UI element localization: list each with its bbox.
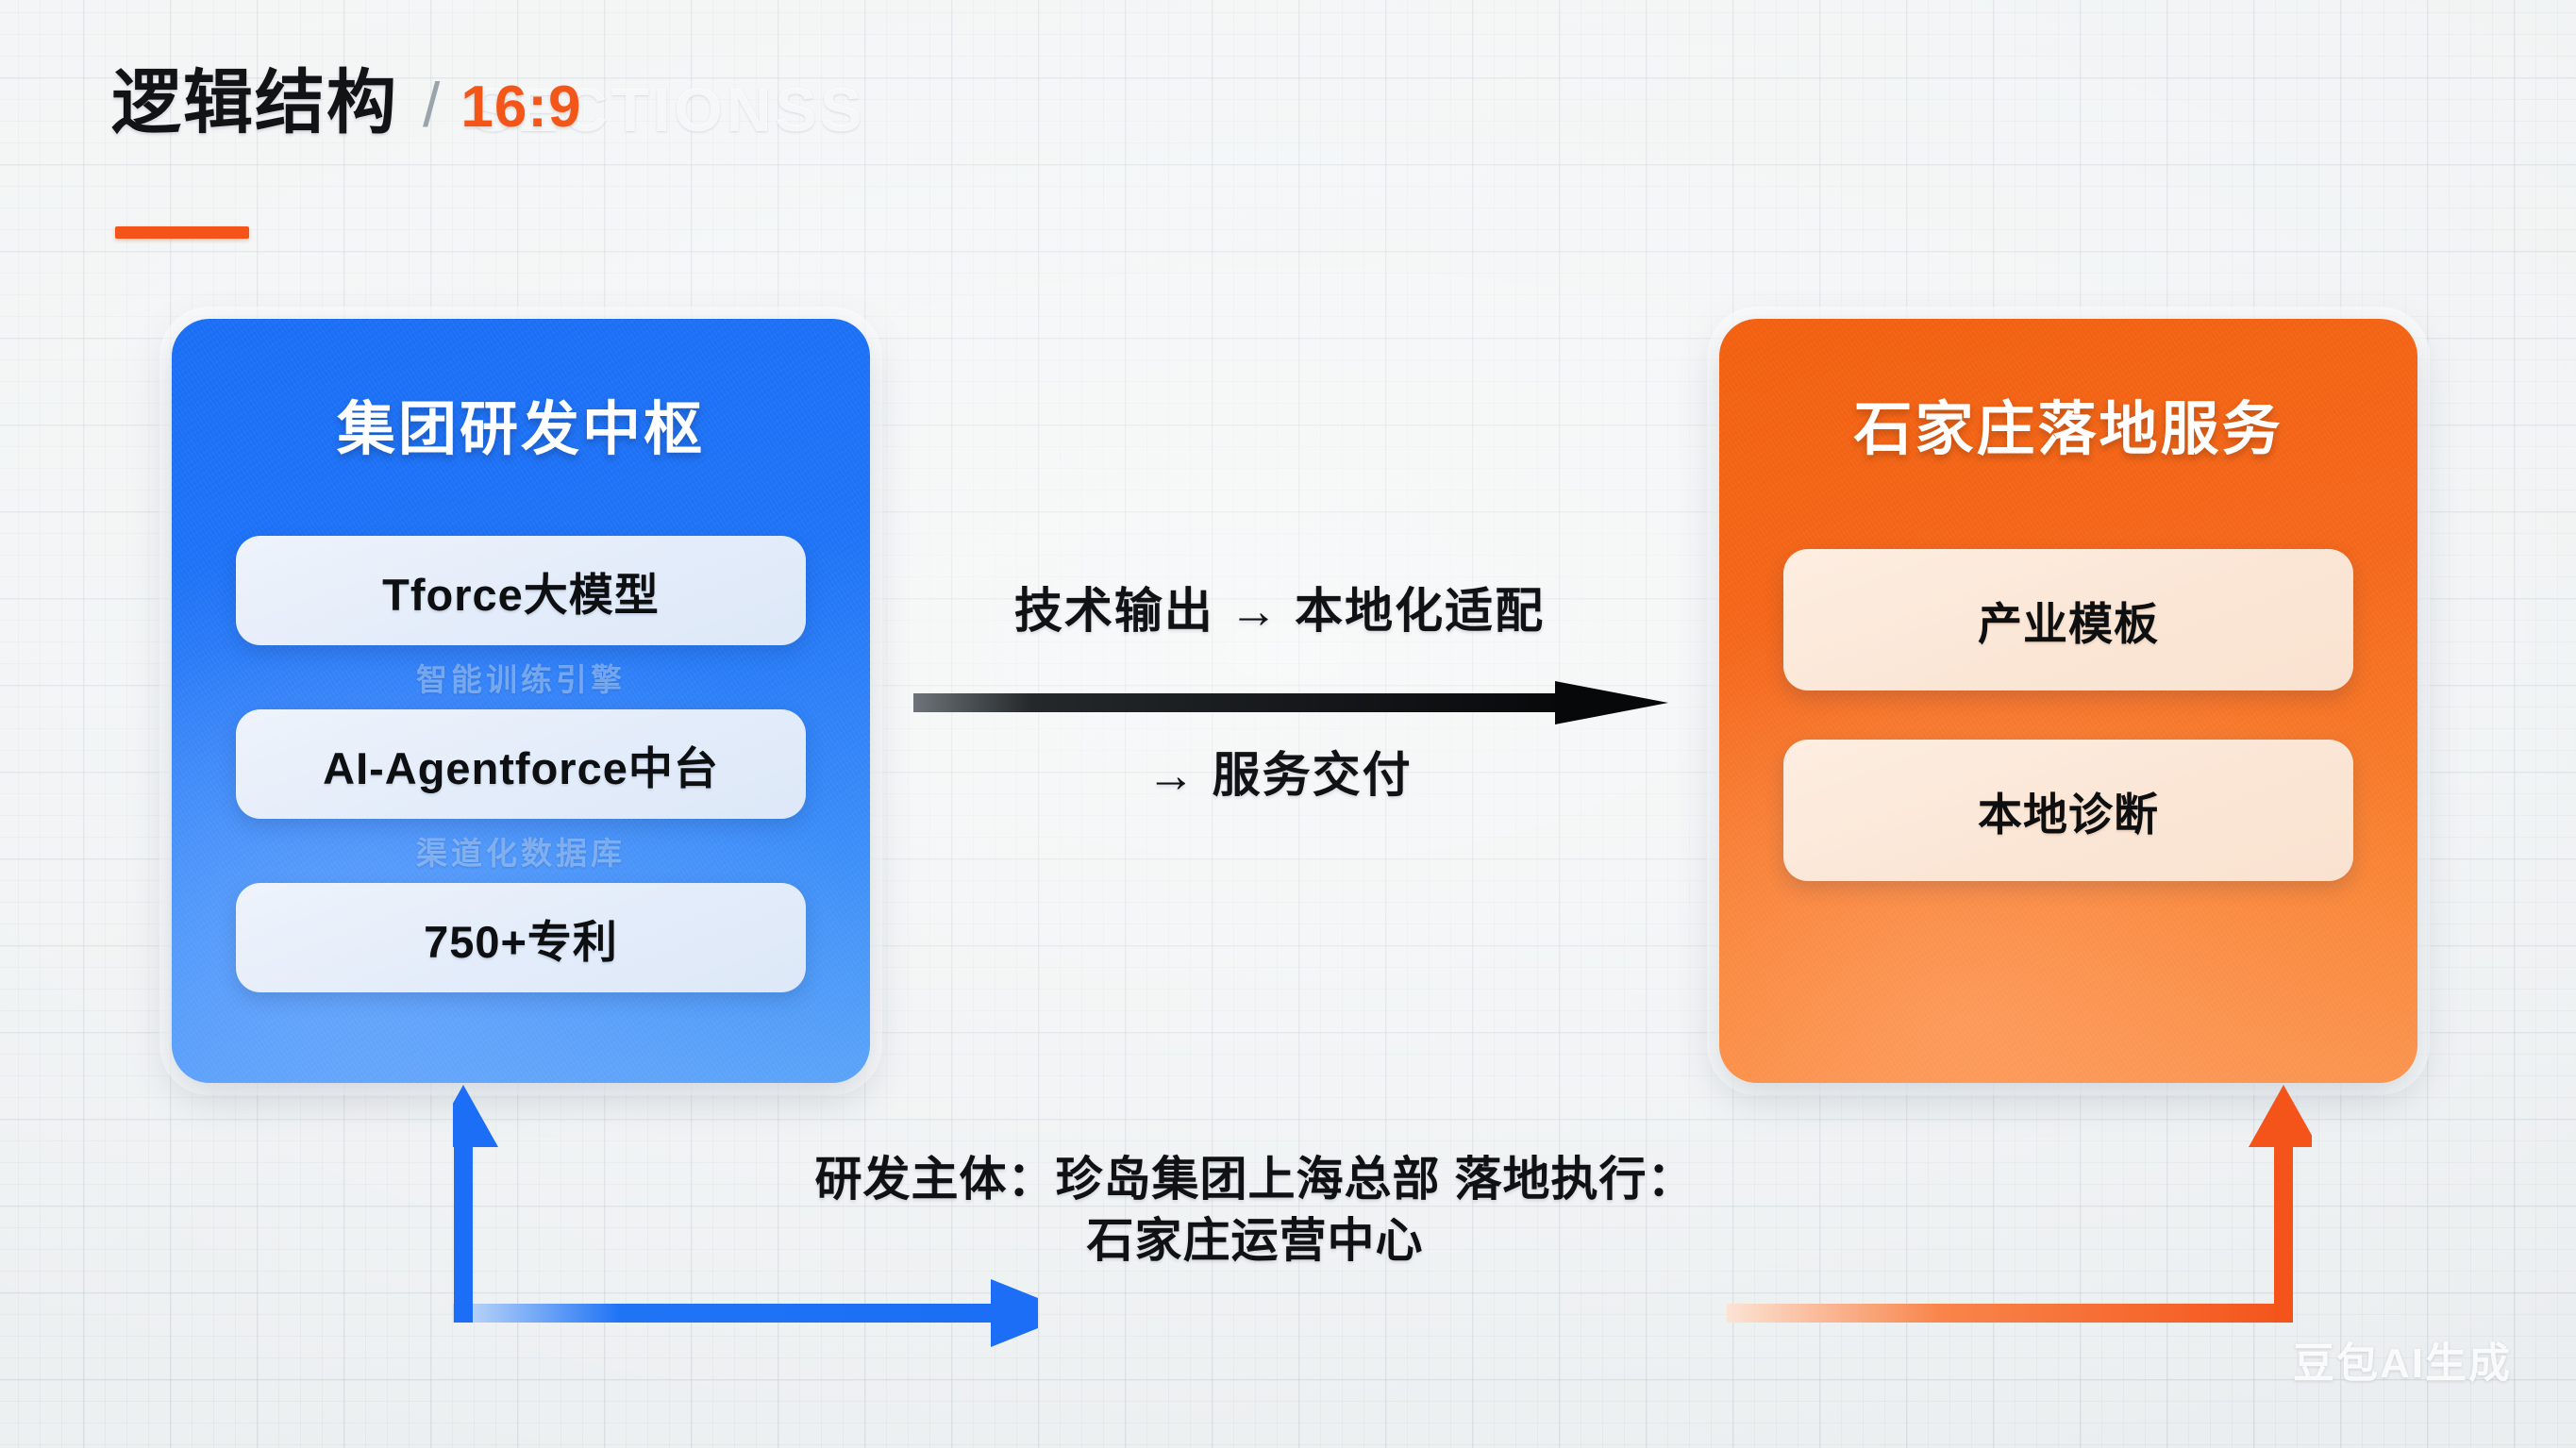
left-card-title: 集团研发中枢 (172, 381, 870, 466)
page-title: 逻辑结构 / 16:9 (111, 68, 581, 138)
right-card-pill-local-diagnosis[interactable]: 本地诊断 (1783, 740, 2353, 881)
title-underline-bar (115, 226, 249, 239)
left-card-pill-agentforce[interactable]: AI-Agentforce中台 (236, 709, 806, 819)
slide-canvas: SECTIONSS 逻辑结构 / 16:9 集团研发中枢 智能训练引擎 渠道化数… (0, 0, 2576, 1448)
left-card-rnd-hub[interactable]: 集团研发中枢 智能训练引擎 渠道化数据库 Tforce大模型 AI-Agentf… (172, 319, 870, 1083)
middle-label-top: 技术输出 → 本地化适配 (949, 572, 1610, 641)
caption-line-1: 研发主体：珍岛集团上海总部 落地执行： (815, 1153, 1696, 1206)
left-card-ghost-label-2: 渠道化数据库 (172, 828, 870, 874)
flow-arrow-right-icon (913, 681, 1668, 724)
right-card-local-service[interactable]: 石家庄落地服务 产业模板 本地诊断 (1719, 319, 2417, 1083)
left-card-pill-tforce[interactable]: Tforce大模型 (236, 536, 806, 645)
page-title-cn: 逻辑结构 (111, 68, 398, 138)
ai-watermark: 豆包AI生成 (2293, 1329, 2512, 1390)
bottom-caption: 研发主体：珍岛集团上海总部 落地执行： 石家庄运营中心 (661, 1149, 1849, 1272)
left-card-pill-patents[interactable]: 750+专利 (236, 883, 806, 992)
right-card-title: 石家庄落地服务 (1719, 381, 2417, 466)
right-card-pill-industry-template[interactable]: 产业模板 (1783, 549, 2353, 691)
middle-label-bottom: → 服务交付 (949, 736, 1610, 806)
caption-line-2: 石家庄运营中心 (1087, 1214, 1424, 1267)
title-separator: / (423, 74, 440, 136)
aspect-ratio-label: 16:9 (460, 78, 581, 137)
left-card-ghost-label-1: 智能训练引擎 (172, 655, 870, 700)
